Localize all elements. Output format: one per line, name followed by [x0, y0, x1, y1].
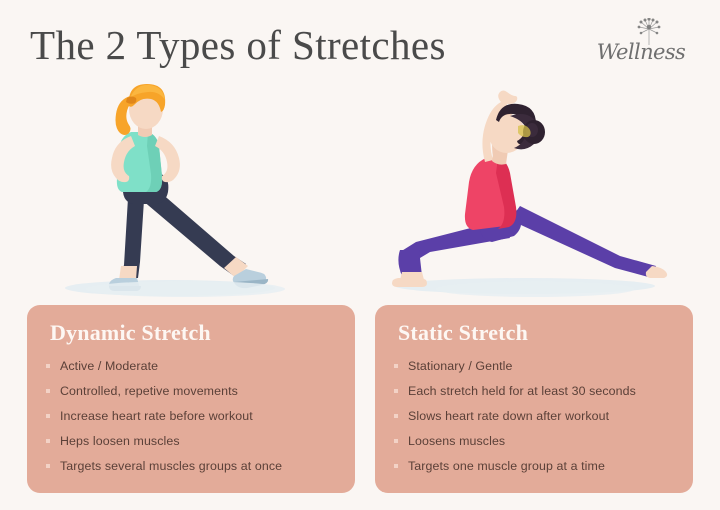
panel-heading-dynamic: Dynamic Stretch [50, 319, 337, 347]
ground-shadow [85, 281, 285, 297]
woman-low-lunge-figure [370, 80, 700, 305]
bullet-icon [46, 439, 50, 443]
list-item-text: Loosens muscles [408, 434, 505, 448]
list-item-text: Stationary / Gentle [408, 359, 513, 373]
list-item-text: Targets several muscles groups at once [60, 459, 282, 473]
bullet-icon [394, 414, 398, 418]
panel-heading-static: Static Stretch [398, 319, 675, 347]
list-item: Targets several muscles groups at once [45, 459, 337, 474]
list-item: Each stretch held for at least 30 second… [393, 384, 675, 399]
bullet-icon [394, 464, 398, 468]
ground-shadow [435, 281, 635, 297]
static-stretch-list: Stationary / Gentle Each stretch held fo… [393, 359, 675, 474]
infographic-canvas: The 2 Types of Stretches [0, 0, 720, 510]
bullet-icon [394, 364, 398, 368]
bullet-icon [394, 389, 398, 393]
list-item-text: Active / Moderate [60, 359, 158, 373]
list-item: Controlled, repetive movements [45, 384, 337, 399]
bullet-icon [46, 414, 50, 418]
list-item-text: Increase heart rate before workout [60, 409, 253, 423]
brand-name: Wellness [588, 40, 694, 64]
bullet-icon [46, 464, 50, 468]
bullet-icon [46, 364, 50, 368]
page-title: The 2 Types of Stretches [30, 20, 446, 70]
list-item-text: Controlled, repetive movements [60, 384, 238, 398]
woman-side-lunge-figure [20, 80, 350, 305]
list-item: Heps loosen muscles [45, 434, 337, 449]
list-item-text: Each stretch held for at least 30 second… [408, 384, 636, 398]
list-item: Slows heart rate down after workout [393, 409, 675, 424]
bullet-icon [46, 389, 50, 393]
list-item: Loosens muscles [393, 434, 675, 449]
list-item: Targets one muscle group at a time [393, 459, 675, 474]
side-lunge-illustration [20, 80, 350, 305]
low-lunge-illustration [370, 80, 700, 305]
list-item: Stationary / Gentle [393, 359, 675, 374]
static-stretch-panel: Static Stretch Stationary / Gentle Each … [375, 305, 693, 493]
dynamic-stretch-list: Active / Moderate Controlled, repetive m… [45, 359, 337, 474]
bullet-icon [394, 439, 398, 443]
brand-logo: Wellness [588, 18, 694, 72]
list-item: Active / Moderate [45, 359, 337, 374]
list-item-text: Targets one muscle group at a time [408, 459, 605, 473]
dynamic-stretch-panel: Dynamic Stretch Active / Moderate Contro… [27, 305, 355, 493]
list-item-text: Heps loosen muscles [60, 434, 180, 448]
list-item-text: Slows heart rate down after workout [408, 409, 609, 423]
list-item: Increase heart rate before workout [45, 409, 337, 424]
